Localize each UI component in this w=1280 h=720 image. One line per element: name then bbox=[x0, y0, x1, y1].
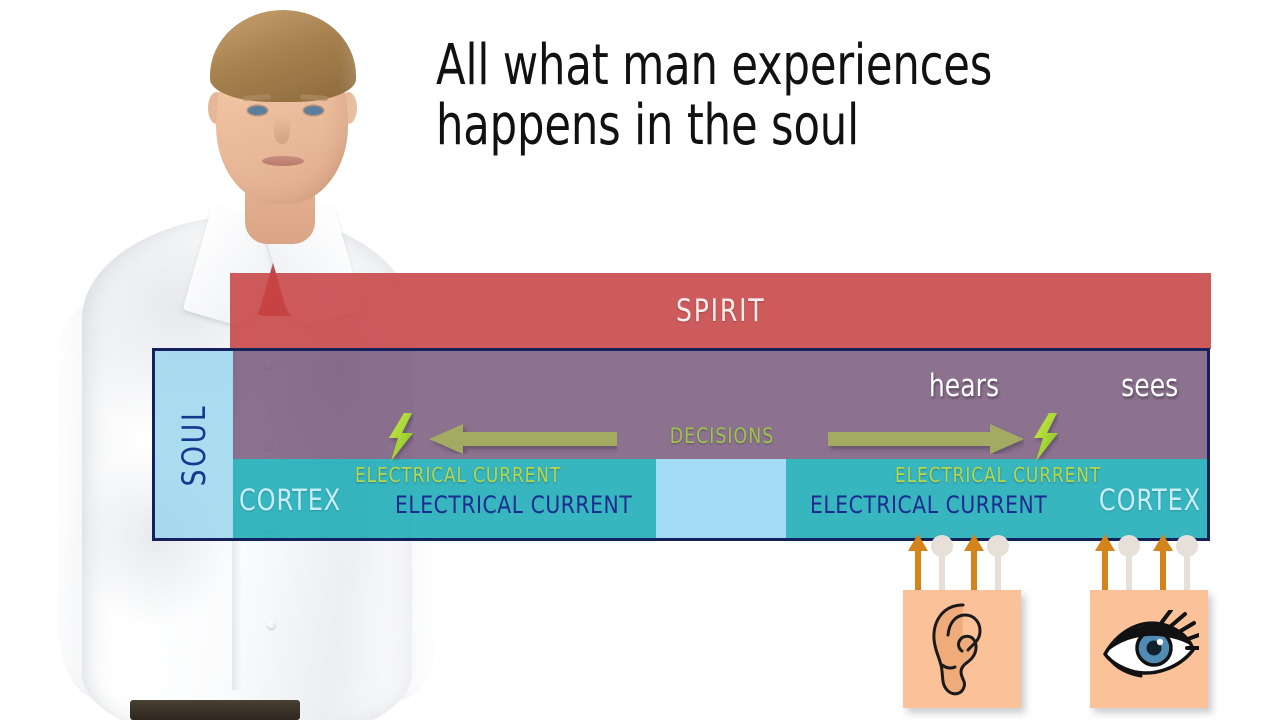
perception-label-sees: sees bbox=[1121, 368, 1178, 404]
ear-icon bbox=[919, 601, 1005, 697]
soul-column: SOUL bbox=[155, 351, 233, 538]
decisions-gap bbox=[656, 459, 786, 538]
lightning-bolt-right bbox=[1033, 413, 1059, 461]
connector-arrow-eye-1 bbox=[1094, 534, 1116, 592]
cortex-label-left: CORTEX bbox=[239, 483, 341, 517]
decisions-label: DECISIONS bbox=[662, 424, 782, 448]
lightning-bolt-left bbox=[388, 413, 414, 461]
current-label-right-soul: ELECTRICAL CURRENT bbox=[895, 463, 1101, 487]
connector-pin-eye-2 bbox=[1175, 534, 1199, 592]
soul-box: SOUL CORTEX CORTEX hears sees DECISIONS bbox=[152, 348, 1210, 541]
sense-card-sight bbox=[1090, 590, 1208, 708]
connector-arrow-eye-2 bbox=[1152, 534, 1174, 592]
cortex-label-right: CORTEX bbox=[1099, 483, 1201, 517]
spirit-label: SPIRIT bbox=[676, 293, 765, 329]
incoming-arrow bbox=[828, 424, 1024, 454]
connector-pin-eye-1 bbox=[1117, 534, 1141, 592]
eye-icon bbox=[1099, 610, 1199, 688]
connector-arrow-ear-2 bbox=[963, 534, 985, 592]
connector-arrow-ear-1 bbox=[907, 534, 929, 592]
outgoing-arrow bbox=[429, 424, 617, 454]
connector-pin-ear-1 bbox=[930, 534, 954, 592]
sense-card-hearing bbox=[903, 590, 1021, 708]
perception-label-hears: hears bbox=[929, 368, 999, 404]
slide-canvas: All what man experiences happens in the … bbox=[0, 0, 1280, 720]
slide-title: All what man experiences happens in the … bbox=[436, 36, 1038, 157]
current-label-left-soul: ELECTRICAL CURRENT bbox=[355, 463, 561, 487]
connector-pin-ear-2 bbox=[986, 534, 1010, 592]
soul-label: SOUL bbox=[175, 403, 213, 486]
current-label-left-cortex: ELECTRICAL CURRENT bbox=[395, 491, 632, 519]
spirit-band: SPIRIT bbox=[230, 273, 1211, 349]
current-label-right-cortex: ELECTRICAL CURRENT bbox=[810, 491, 1047, 519]
